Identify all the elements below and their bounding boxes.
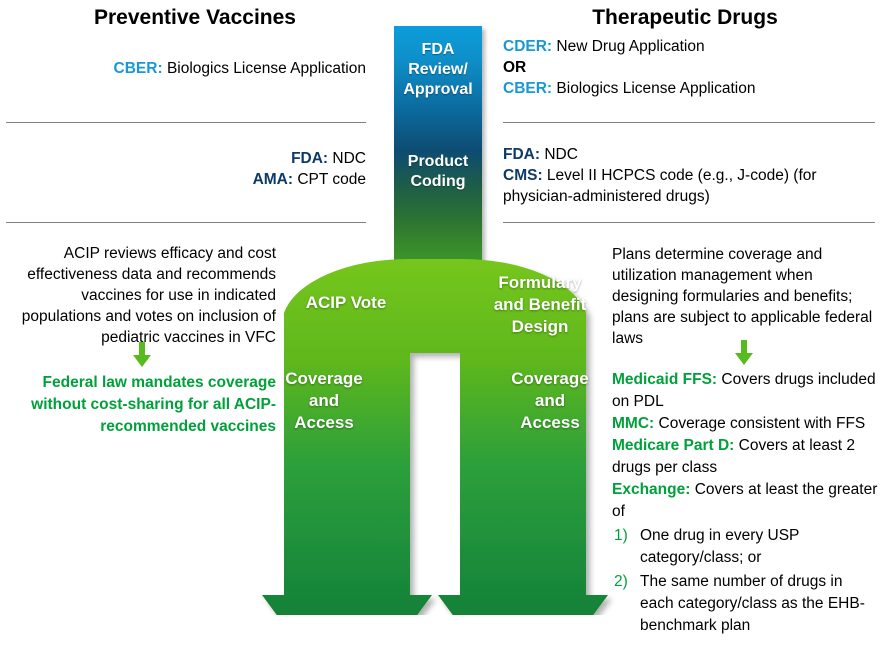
outcome-row-mmc: MMC: Coverage consistent with FFS [612,413,880,435]
bar-label-fda-review-approval: FDA Review/ Approval [394,40,482,100]
agency-label-cber: CBER: [114,60,163,77]
list-item: 1) One drug in every USP category/class;… [612,525,880,569]
column-title-preventive-vaccines: Preventive Vaccines [0,6,390,30]
list-item-text: One drug in every USP category/class; or [640,527,799,566]
arch-label-line: Formulary [470,272,610,294]
agency-label-fda-right: FDA: [503,146,540,163]
list-item: 2) The same number of drugs in each cate… [612,571,880,637]
bar-label-product-coding: Product Coding [394,152,482,192]
divider-right-lower [503,222,875,223]
arch-label-line: Coverage [279,368,369,390]
right-product-coding-text: FDA: NDC CMS: Level II HCPCS code (e.g.,… [503,144,877,207]
outcome-row-exchange: Exchange: Covers at least the greater of [612,479,880,523]
agency-label-cms: CMS: [503,167,543,184]
column-title-therapeutic-drugs: Therapeutic Drugs [490,6,880,30]
list-item-text: The same number of drugs in each categor… [640,573,865,634]
left-product-coding-text: FDA: NDC AMA: CPT code [10,148,366,190]
outcome-value-mmc: Coverage consistent with FFS [659,415,866,432]
left-coding-fda-value: NDC [332,150,366,167]
right-review-cder-value: New Drug Application [556,38,704,55]
outcome-label-medicare-part-d: Medicare Part D: [612,437,734,454]
left-coding-row-fda: FDA: NDC [10,148,366,169]
arch-label-formulary-benefit-design: Formulary and Benefit Design [470,272,610,338]
bar-label-line: Review/ [394,60,482,80]
arch-label-line: and [505,390,595,412]
right-outcomes-list: Medicaid FFS: Covers drugs included on P… [612,369,880,637]
arch-label-coverage-access-left: Coverage and Access [279,368,369,434]
bar-label-line: Coding [394,172,482,192]
conjunction-or: OR [503,59,526,76]
arch-label-acip-vote: ACIP Vote [291,292,401,314]
right-review-row-or: OR [503,57,877,78]
arch-label-coverage-access-right: Coverage and Access [505,368,595,434]
left-coding-ama-value: CPT code [297,171,366,188]
bar-label-line: FDA [394,40,482,60]
left-coding-row-ama: AMA: CPT code [10,169,366,190]
diagram-canvas: Preventive Vaccines Therapeutic Drugs CB… [0,0,880,651]
down-arrow-icon-right [733,340,755,371]
arch-label-line: Access [279,412,369,434]
right-coding-fda-value: NDC [544,146,578,163]
outcome-row-medicare-part-d: Medicare Part D: Covers at least 2 drugs… [612,435,880,479]
arch-label-line: Access [505,412,595,434]
divider-left-lower [6,222,366,223]
right-description-text: Plans determine coverage and utilization… [612,244,878,349]
arch-label-line: Design [470,316,610,338]
right-review-approval-text: CDER: New Drug Application OR CBER: Biol… [503,36,877,99]
left-review-approval-value: Biologics License Application [167,60,366,77]
bar-label-line: Product [394,152,482,172]
right-review-cber-value: Biologics License Application [556,80,755,97]
arch-label-line: Coverage [505,368,595,390]
right-coding-row-fda: FDA: NDC [503,144,877,165]
exchange-requirement-list: 1) One drug in every USP category/class;… [612,525,880,637]
right-coding-cms-value: Level II HCPCS code (e.g., J-code) (for … [503,167,817,205]
left-description-text: ACIP reviews efficacy and cost effective… [10,243,276,348]
bar-label-line: Approval [394,80,482,100]
arch-label-line: and Benefit [470,294,610,316]
divider-left-upper [6,122,366,123]
down-arrow-icon-left [131,342,153,373]
center-process-bar: FDA Review/ Approval Product Coding [394,26,482,266]
agency-label-cber-right: CBER: [503,80,552,97]
outcome-label-medicaid-ffs: Medicaid FFS: [612,371,717,388]
divider-right-upper [503,122,875,123]
outcome-row-medicaid-ffs: Medicaid FFS: Covers drugs included on P… [612,369,880,413]
arch-label-line: and [279,390,369,412]
right-review-row-cber: CBER: Biologics License Application [503,78,877,99]
agency-label-fda: FDA: [291,150,328,167]
agency-label-cder: CDER: [503,38,552,55]
agency-label-ama: AMA: [253,171,293,188]
right-review-row-cder: CDER: New Drug Application [503,36,877,57]
left-review-approval-text: CBER: Biologics License Application [10,58,366,79]
right-coding-row-cms: CMS: Level II HCPCS code (e.g., J-code) … [503,165,877,207]
left-outcome-text: Federal law mandates coverage without co… [10,372,276,438]
